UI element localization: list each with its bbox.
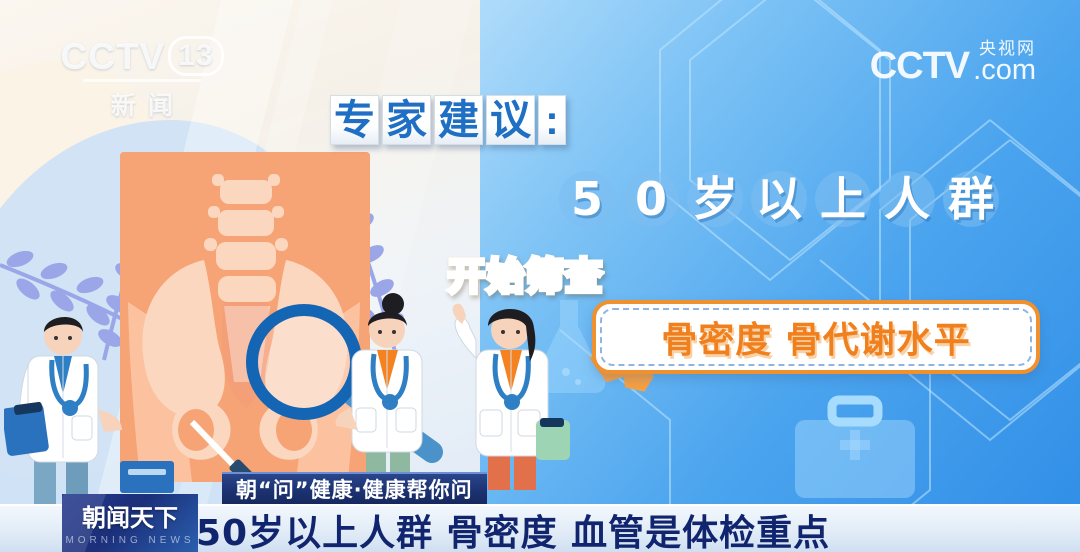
logo-divider	[83, 79, 201, 82]
cctv-com-domain: .com	[973, 56, 1036, 85]
expert-advice-char: 家	[382, 95, 431, 145]
doctor-right-female	[440, 292, 570, 492]
program-logo: 朝闻天下 MORNING NEWS	[62, 494, 198, 552]
over-50-headline: 5 0 岁 以 上 人 群	[556, 168, 1002, 230]
sub-banner: 朝“问”健康·健康帮你问	[222, 472, 487, 504]
bone-density-text: 骨密度 骨代谢水平	[661, 311, 971, 363]
over-50-char: 0	[620, 168, 682, 230]
expert-advice-char: 专	[330, 95, 379, 145]
channel-subtitle: 新闻	[62, 86, 222, 122]
cctv-com-brand: CCTV	[870, 47, 969, 85]
doctor-center-female	[332, 290, 442, 490]
expert-advice-colon: :	[538, 95, 566, 145]
medicine-box-icon	[118, 455, 178, 495]
cctv-wordmark: CCTV	[60, 38, 165, 75]
broadcast-screen: CCTV 13 新闻 CCTV 央视网 .com 专 家 建 议 : 5 0 岁…	[0, 0, 1080, 552]
channel-number: 13	[168, 36, 223, 76]
cctv13-channel-logo: CCTV 13 新闻	[62, 36, 222, 122]
over-50-char: 人	[876, 168, 938, 230]
start-screening-label: 开始筛查	[448, 246, 604, 300]
expert-advice-char: 建	[434, 95, 483, 145]
over-50-char: 群	[940, 168, 1002, 230]
over-50-char: 上	[812, 168, 874, 230]
expert-advice-title: 专 家 建 议 :	[330, 95, 566, 145]
ticker-headline: 50岁以上人群 骨密度 血管是体检重点	[196, 506, 830, 552]
cctv-com-watermark: CCTV 央视网 .com	[870, 40, 1036, 85]
sub-banner-text: 朝“问”健康·健康帮你问	[236, 474, 473, 504]
expert-advice-char: 议	[486, 95, 535, 145]
over-50-char: 5	[556, 168, 618, 230]
bone-density-callout: 骨密度 骨代谢水平	[592, 300, 1040, 374]
over-50-char: 以	[748, 168, 810, 230]
bone-density-inner-border: 骨密度 骨代谢水平	[600, 308, 1032, 366]
start-screening-text: 开始筛查	[448, 255, 604, 298]
over-50-char: 岁	[684, 168, 746, 230]
